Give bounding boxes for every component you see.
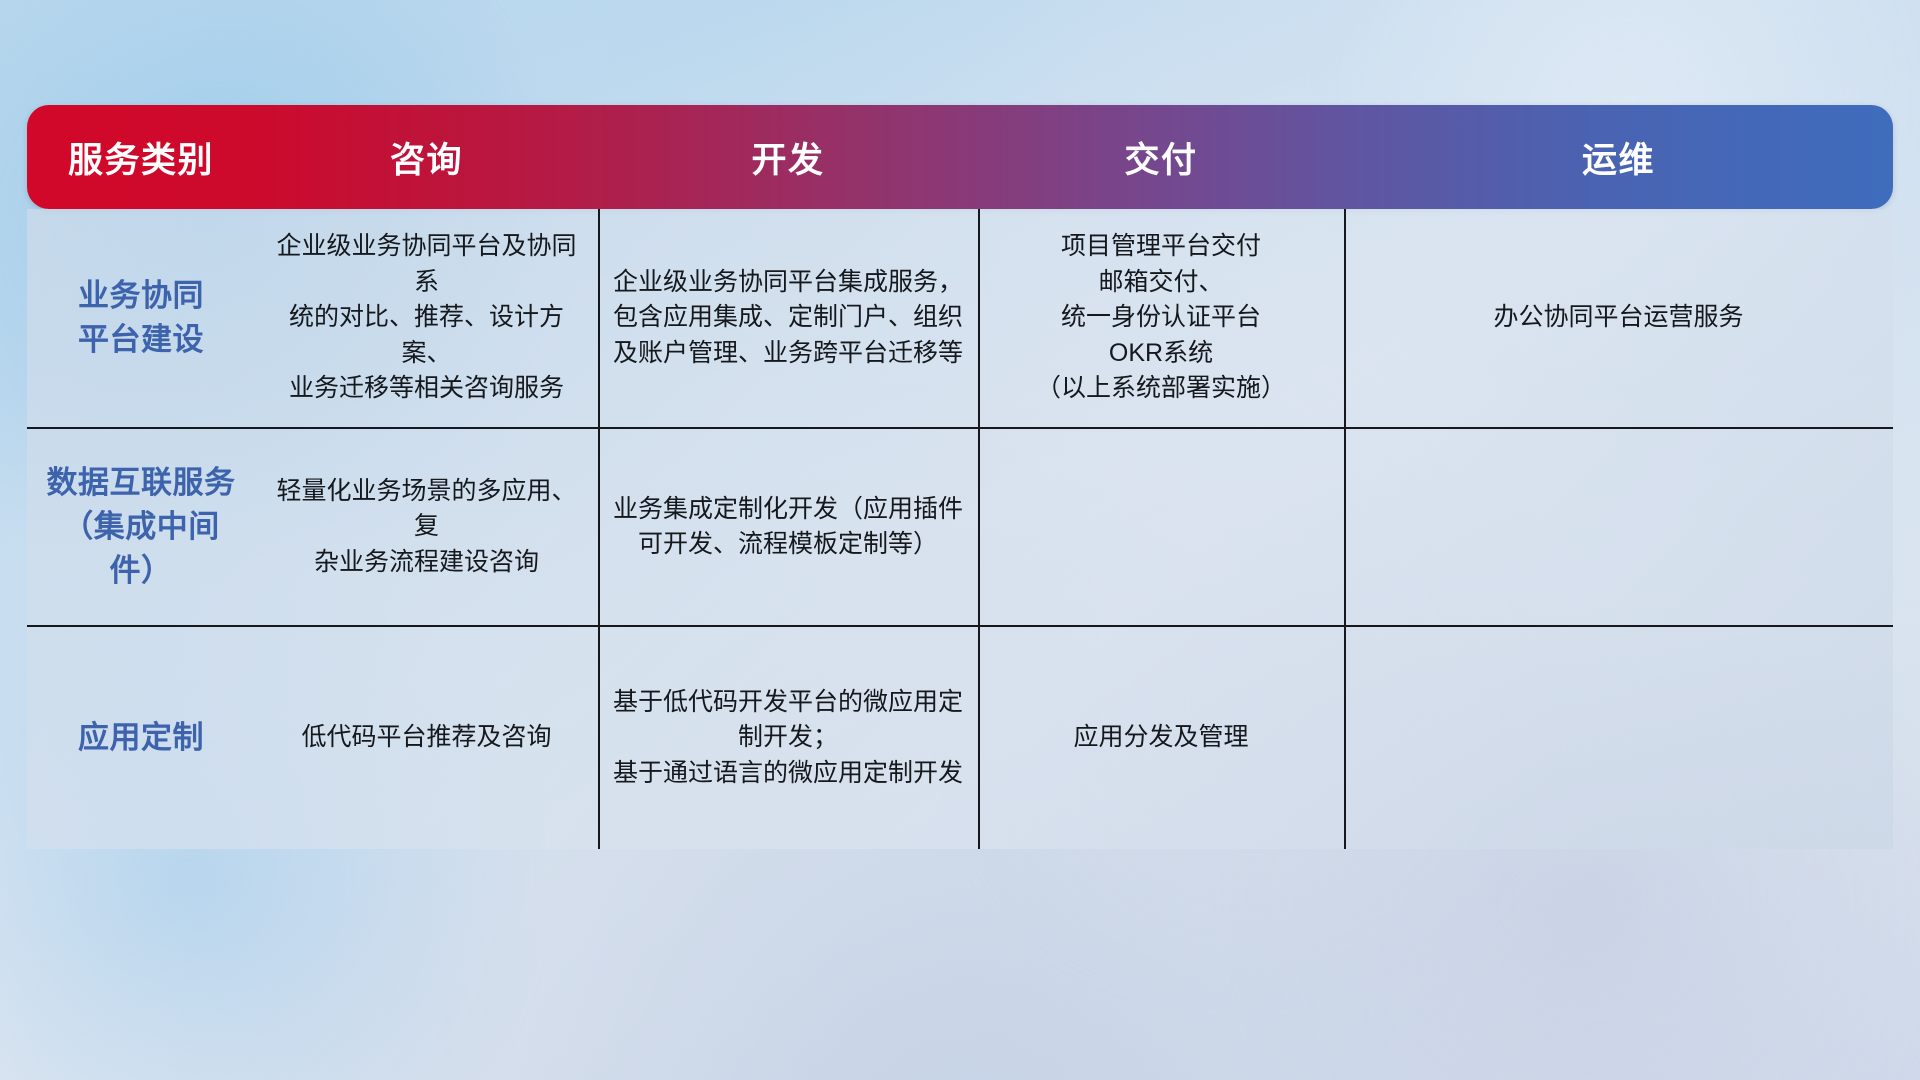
table-row: 业务协同 平台建设 企业级业务协同平台及协同系 统的对比、推荐、设计方案、 业务… bbox=[27, 209, 1893, 429]
cell-consulting: 低代码平台推荐及咨询 bbox=[255, 627, 598, 849]
cell-delivery bbox=[978, 429, 1344, 625]
cell-category: 应用定制 bbox=[27, 627, 255, 849]
cell-operations bbox=[1344, 429, 1893, 625]
column-header-development: 开发 bbox=[598, 105, 978, 209]
table-row: 应用定制 低代码平台推荐及咨询 基于低代码开发平台的微应用定 制开发； 基于通过… bbox=[27, 627, 1893, 849]
cell-consulting: 企业级业务协同平台及协同系 统的对比、推荐、设计方案、 业务迁移等相关咨询服务 bbox=[255, 209, 598, 427]
table-row: 数据互联服务 （集成中间件） 轻量化业务场景的多应用、复 杂业务流程建设咨询 业… bbox=[27, 429, 1893, 627]
cell-delivery: 应用分发及管理 bbox=[978, 627, 1344, 849]
cell-development: 业务集成定制化开发（应用插件 可开发、流程模板定制等） bbox=[598, 429, 978, 625]
table-header-row: 服务类别 咨询 开发 交付 运维 bbox=[27, 105, 1893, 209]
column-header-category: 服务类别 bbox=[27, 105, 255, 209]
cell-category: 业务协同 平台建设 bbox=[27, 209, 255, 427]
cell-development: 基于低代码开发平台的微应用定 制开发； 基于通过语言的微应用定制开发 bbox=[598, 627, 978, 849]
cell-operations: 办公协同平台运营服务 bbox=[1344, 209, 1893, 427]
cell-category: 数据互联服务 （集成中间件） bbox=[27, 429, 255, 625]
column-header-consulting: 咨询 bbox=[255, 105, 598, 209]
column-header-operations: 运维 bbox=[1344, 105, 1893, 209]
cell-development: 企业级业务协同平台集成服务， 包含应用集成、定制门户、组织 及账户管理、业务跨平… bbox=[598, 209, 978, 427]
cell-operations bbox=[1344, 627, 1893, 849]
cell-consulting: 轻量化业务场景的多应用、复 杂业务流程建设咨询 bbox=[255, 429, 598, 625]
column-header-delivery: 交付 bbox=[978, 105, 1344, 209]
cell-delivery: 项目管理平台交付 邮箱交付、 统一身份认证平台 OKR系统 （以上系统部署实施） bbox=[978, 209, 1344, 427]
service-matrix-table: 服务类别 咨询 开发 交付 运维 业务协同 平台建设 企业级业务协同平台及协同系… bbox=[27, 105, 1893, 849]
table-body: 业务协同 平台建设 企业级业务协同平台及协同系 统的对比、推荐、设计方案、 业务… bbox=[27, 209, 1893, 849]
